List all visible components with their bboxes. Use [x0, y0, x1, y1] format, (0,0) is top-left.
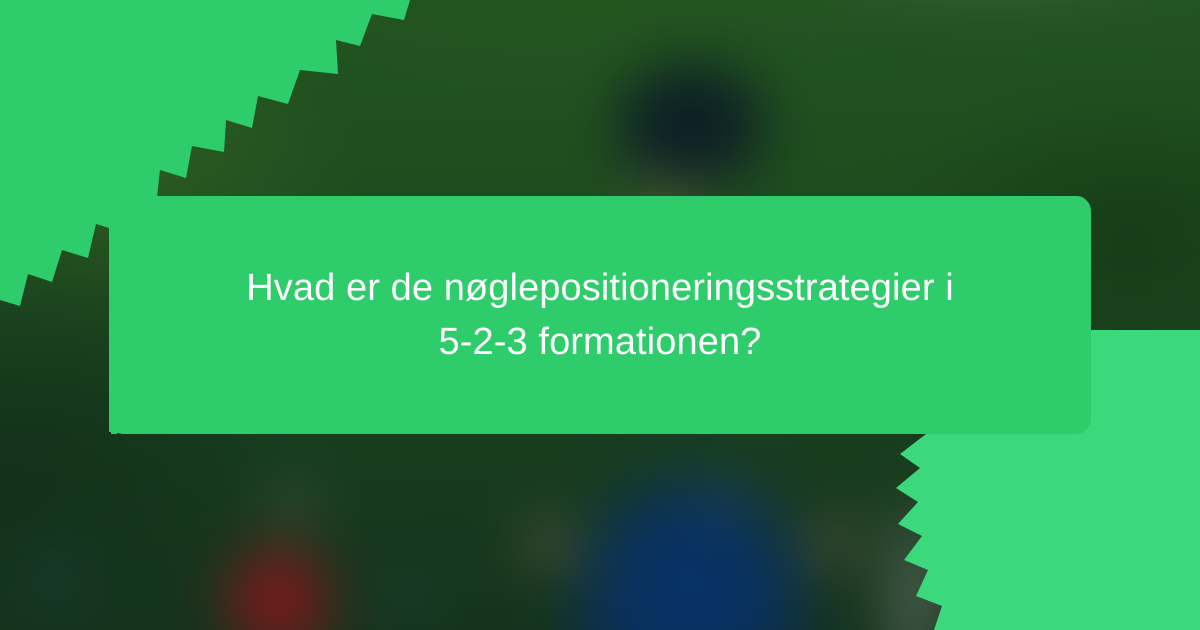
headline-ribbon: Hvad er de nøglepositioneringsstrategier… — [107, 196, 1093, 434]
headline-text: Hvad er de nøglepositioneringsstrategier… — [107, 196, 1093, 434]
social-card: Hvad er de nøglepositioneringsstrategier… — [0, 0, 1200, 630]
